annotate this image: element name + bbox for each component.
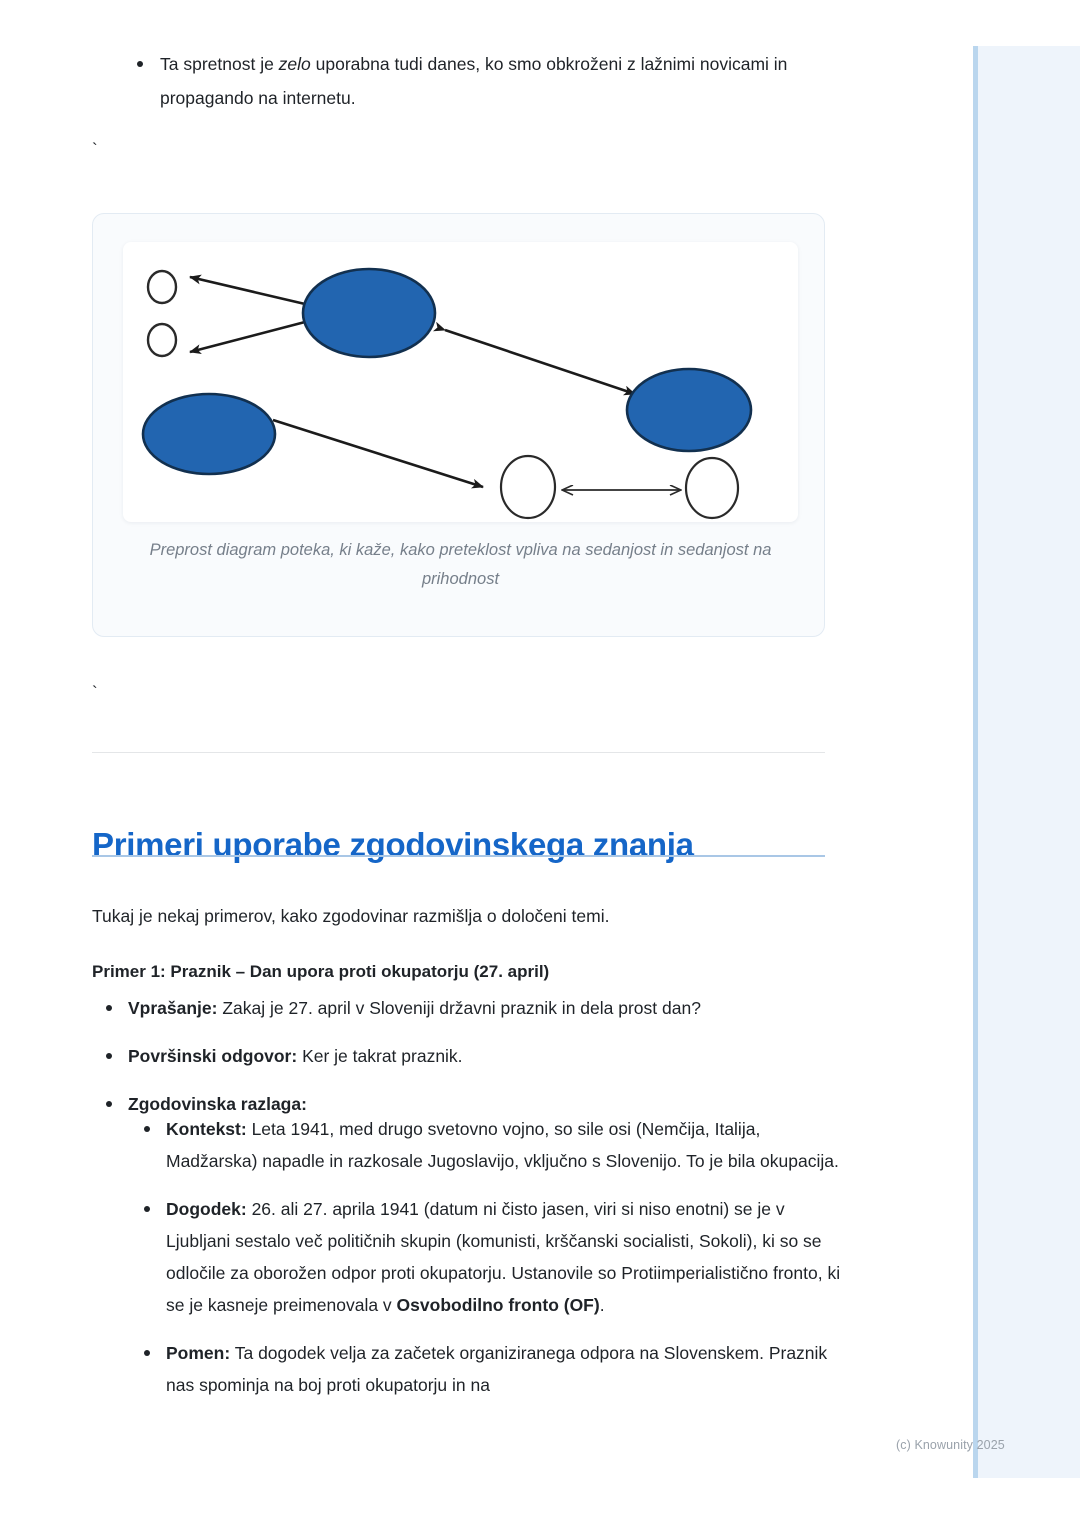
list-item: Ta spretnost je zelo uporabna tudi danes… [124, 47, 824, 115]
list-item: Kontekst: Leta 1941, med drugo svetovno … [130, 1113, 850, 1177]
ellipse-right [627, 369, 751, 451]
figure-caption: Preprost diagram poteka, ki kaže, kako p… [133, 536, 788, 594]
circle-bottom-right [686, 458, 738, 518]
list-item-bold-phrase: Osvobodilno fronto (OF) [397, 1295, 600, 1315]
arrow-center-to-right-ellipse [445, 330, 635, 394]
right-side-panel [973, 46, 1080, 1478]
backtick-mark-top: ` [92, 141, 98, 158]
watermark: (c) Knowunity 2025 [896, 1438, 1005, 1452]
document-content: Ta spretnost je zelo uporabna tudi danes… [0, 0, 920, 1528]
list-item-text: Ta dogodek velja za začetek organizirane… [166, 1343, 827, 1395]
list-item-label: Zgodovinska razlaga: [128, 1094, 307, 1114]
arrow-bottom-left-to-circle [273, 420, 483, 487]
small-circle-second-left [148, 324, 176, 356]
small-circle-top-left [148, 271, 176, 303]
arrow-center-to-circle-2 [190, 322, 305, 352]
list-item: Površinski odgovor: Ker je takrat prazni… [92, 1040, 872, 1072]
section-divider [92, 752, 825, 753]
figure-card: Preprost diagram poteka, ki kaže, kako p… [92, 213, 825, 637]
ellipse-bottom-left [143, 394, 275, 474]
circle-bottom-center [501, 456, 555, 518]
list-item-label: Površinski odgovor: [128, 1046, 297, 1066]
list-item-label: Vprašanje: [128, 998, 217, 1018]
list-item: Dogodek: 26. ali 27. aprila 1941 (datum … [130, 1193, 850, 1321]
backtick-mark-bottom: ` [92, 684, 98, 701]
intro-bullet-emphasis: zelo [279, 54, 311, 74]
list-item-label: Kontekst: [166, 1119, 247, 1139]
ellipse-top-center [303, 269, 435, 357]
list-item-text-part2: . [600, 1295, 605, 1315]
list-item-label: Pomen: [166, 1343, 230, 1363]
list-item: Vprašanje: Zakaj je 27. april v Slovenij… [92, 992, 872, 1024]
page-title: Primeri uporabe zgodovinskega znanja [92, 824, 832, 866]
example-title: Primer 1: Praznik – Dan upora proti okup… [92, 958, 852, 986]
intro-bullet-list: Ta spretnost je zelo uporabna tudi danes… [124, 47, 824, 115]
heading-underline [92, 855, 825, 857]
figure-image-area [123, 242, 798, 522]
arrow-center-to-circle-1 [190, 277, 305, 304]
list-item-text: Ker je takrat praznik. [297, 1046, 462, 1066]
flow-diagram-svg [123, 242, 798, 522]
list-item: Pomen: Ta dogodek velja za začetek organ… [130, 1337, 850, 1401]
intro-bullet-text-before: Ta spretnost je [160, 54, 279, 74]
level2-bullet-list: Kontekst: Leta 1941, med drugo svetovno … [130, 1113, 850, 1417]
list-item-text: Zakaj je 27. april v Sloveniji državni p… [217, 998, 700, 1018]
intro-paragraph: Tukaj je nekaj primerov, kako zgodovinar… [92, 901, 852, 931]
list-item-label: Dogodek: [166, 1199, 247, 1219]
intro-bullet-list-wrap: Ta spretnost je zelo uporabna tudi danes… [124, 47, 824, 115]
list-item-text: Leta 1941, med drugo svetovno vojno, so … [166, 1119, 839, 1171]
scrollbar-rail[interactable] [973, 46, 978, 1478]
